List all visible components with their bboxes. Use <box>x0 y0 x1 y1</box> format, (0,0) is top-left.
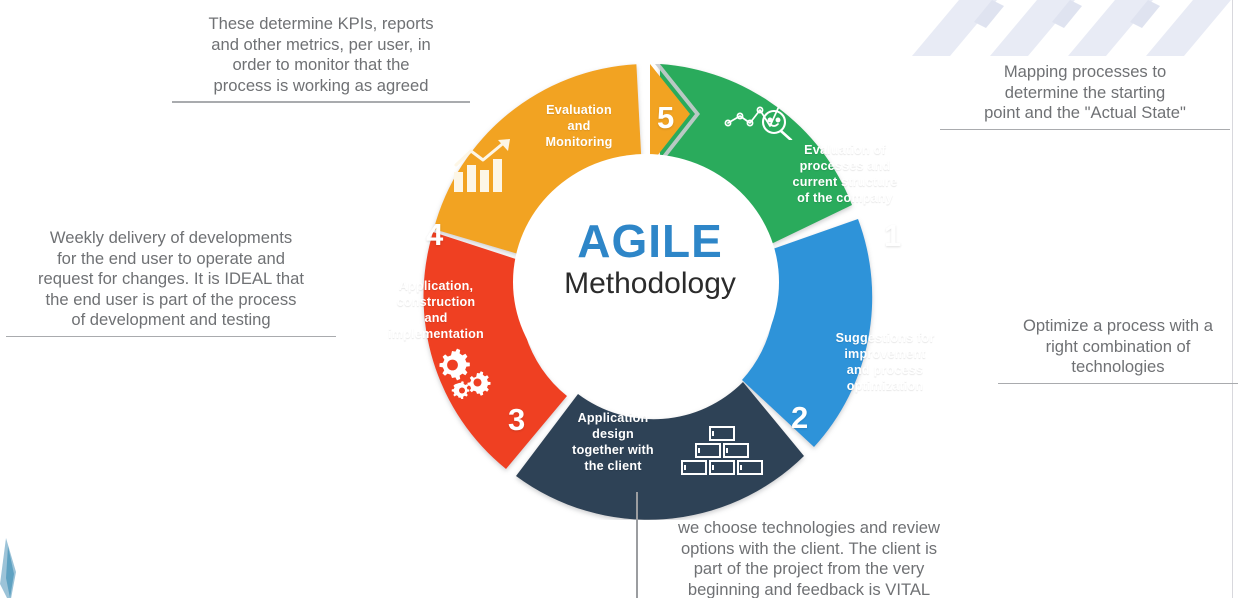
callout-step-4-line1: Weekly delivery of developments <box>6 228 336 249</box>
callout-step-2-line3: technologies <box>998 357 1238 378</box>
callout-step-4-line3: request for changes. It is IDEAL that <box>6 269 336 290</box>
callout-step-5-line3: order to monitor that the <box>172 55 470 76</box>
callout-step-3-line2: options with the client. The client is <box>634 539 984 560</box>
callout-step-4: Weekly delivery of developments for the … <box>6 228 336 337</box>
callout-step-4-line5: of development and testing <box>6 310 336 331</box>
slide-right-border <box>1232 0 1233 598</box>
callout-step-3-line1: we choose technologies and review <box>634 518 984 539</box>
callout-step-4-line2: for the end user to operate and <box>6 249 336 270</box>
callout-step-1-line2: determine the starting <box>940 83 1230 104</box>
callout-step-1-line1: Mapping processes to <box>940 62 1230 83</box>
callout-step-3: we choose technologies and review option… <box>634 518 984 598</box>
callout-step-3-line4: beginning and feedback is VITAL <box>634 580 984 598</box>
donut-center-hole <box>513 154 779 410</box>
callout-step-5-line4: process is working as agreed <box>172 76 470 97</box>
donut-svg <box>338 52 958 520</box>
callout-step-3-line3: part of the project from the very <box>634 559 984 580</box>
callout-step-2-line2: right combination of <box>998 337 1238 358</box>
callout-step-5-line2: and other metrics, per user, in <box>172 35 470 56</box>
callout-step-1-line3: point and the "Actual State" <box>940 103 1230 124</box>
diagonal-stripes-decoration <box>852 0 1232 56</box>
callout-step-2-line1: Optimize a process with a <box>998 316 1238 337</box>
callout-step-5-rule <box>172 101 470 103</box>
callout-step-4-line4: the end user is part of the process <box>6 290 336 311</box>
slide-canvas: AGILE Methodology Evaluation of processe… <box>0 0 1240 598</box>
agile-cycle-donut <box>338 52 958 520</box>
callout-step-5: These determine KPIs, reports and other … <box>172 14 470 103</box>
callout-step-4-rule <box>6 336 336 338</box>
callout-step-2-rule <box>998 383 1238 385</box>
callout-step-1: Mapping processes to determine the start… <box>940 62 1230 130</box>
callout-step-2: Optimize a process with a right combinat… <box>998 316 1238 384</box>
callout-step-1-rule <box>940 129 1230 131</box>
corner-accent-decoration <box>0 538 24 598</box>
callout-step-5-line1: These determine KPIs, reports <box>172 14 470 35</box>
